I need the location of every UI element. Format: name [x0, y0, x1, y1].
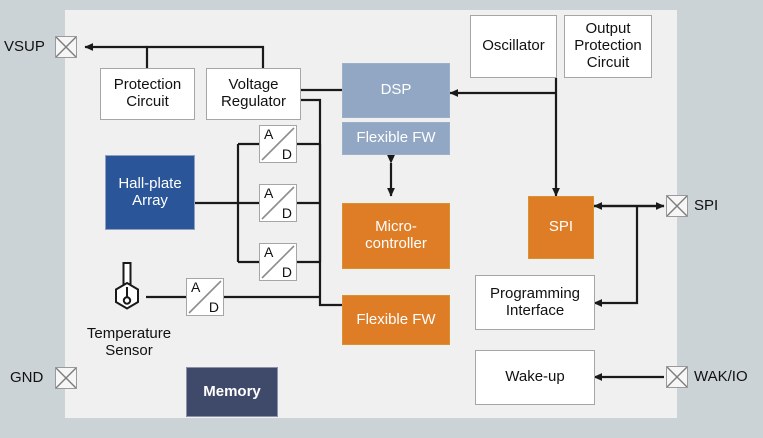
adc-block-2[interactable]: A D — [259, 184, 297, 222]
thermometer-icon — [104, 262, 150, 318]
pad-wakio[interactable] — [666, 366, 688, 388]
adc-denominator-label: D — [282, 264, 292, 280]
block-output-protection-circuit[interactable]: Output Protection Circuit — [564, 15, 652, 78]
adc-denominator-label: D — [209, 299, 219, 315]
block-dsp[interactable]: DSP — [342, 63, 450, 118]
adc-denominator-label: D — [282, 146, 292, 162]
block-programming-interface[interactable]: Programming Interface — [475, 275, 595, 330]
block-oscillator[interactable]: Oscillator — [470, 15, 557, 78]
pad-x-icon — [667, 196, 687, 216]
caption-temperature-sensor: Temperature Sensor — [79, 325, 179, 360]
block-protection-circuit[interactable]: Protection Circuit — [100, 68, 195, 120]
block-diagram-canvas: VSUP GND SPI WAK/IO Protection Circuit V… — [0, 0, 763, 438]
block-memory[interactable]: Memory — [186, 367, 278, 417]
pad-gnd[interactable] — [55, 367, 77, 389]
pad-vsup[interactable] — [55, 36, 77, 58]
adc-numerator-label: A — [264, 185, 273, 201]
block-microcontroller[interactable]: Micro- controller — [342, 203, 450, 269]
pad-spi[interactable] — [666, 195, 688, 217]
adc-denominator-label: D — [282, 205, 292, 221]
block-wakeup[interactable]: Wake-up — [475, 350, 595, 405]
pad-x-icon — [667, 367, 687, 387]
pad-label-spi: SPI — [694, 197, 718, 214]
adc-numerator-label: A — [191, 279, 200, 295]
pad-label-wakio: WAK/IO — [694, 368, 748, 385]
adc-block-4[interactable]: A D — [186, 278, 224, 316]
adc-block-1[interactable]: A D — [259, 125, 297, 163]
block-hall-plate-array[interactable]: Hall-plate Array — [105, 155, 195, 230]
block-flexible-fw-bottom[interactable]: Flexible FW — [342, 295, 450, 345]
block-voltage-regulator[interactable]: Voltage Regulator — [206, 68, 301, 120]
pad-x-icon — [56, 368, 76, 388]
adc-numerator-label: A — [264, 244, 273, 260]
adc-numerator-label: A — [264, 126, 273, 142]
pad-label-gnd: GND — [10, 369, 43, 386]
pad-x-icon — [56, 37, 76, 57]
adc-block-3[interactable]: A D — [259, 243, 297, 281]
pad-label-vsup: VSUP — [4, 38, 45, 55]
block-flexible-fw-top[interactable]: Flexible FW — [342, 122, 450, 155]
block-spi[interactable]: SPI — [528, 196, 594, 259]
